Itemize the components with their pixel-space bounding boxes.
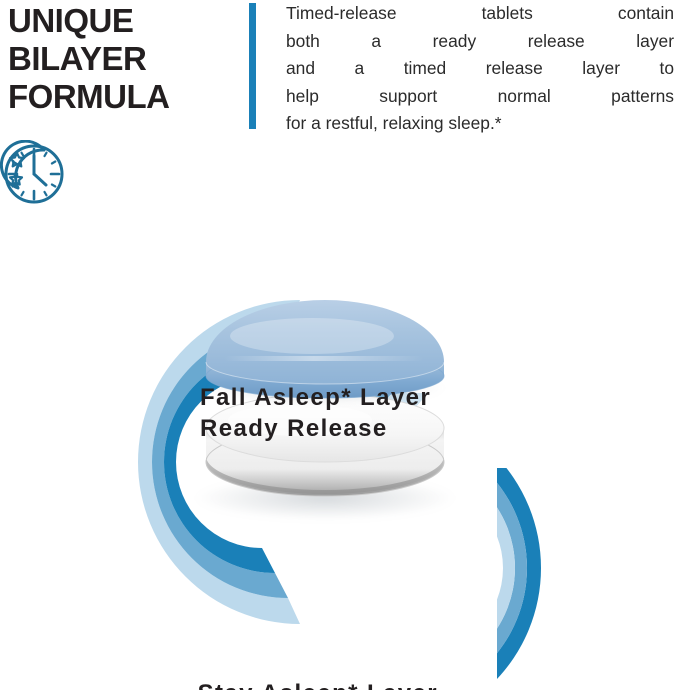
blurb-line-3: and a timed release layer to [286, 55, 674, 83]
description-text: Timed-release tablets contain both a rea… [286, 0, 674, 138]
page-title: UNIQUE BILAYER FORMULA [8, 2, 240, 116]
stay-asleep-label: Stay Asleep* Layer Timed Release [160, 678, 438, 690]
blurb-line-2: both a ready release layer [286, 28, 674, 56]
fall-asleep-label: Fall Asleep* Layer Ready Release [200, 382, 431, 444]
bilayer-formula-infographic: UNIQUE BILAYER FORMULA Timed-release tab… [0, 0, 679, 690]
blurb-line-4: help support normal patterns [286, 83, 674, 111]
fall-asleep-title: Fall Asleep* Layer [200, 382, 431, 413]
fall-asleep-subtitle: Ready Release [200, 413, 431, 444]
blurb-line-1: Timed-release tablets contain [286, 0, 674, 28]
vertical-divider [249, 3, 256, 129]
stay-asleep-title: Stay Asleep* Layer [160, 678, 438, 690]
header: UNIQUE BILAYER FORMULA Timed-release tab… [0, 0, 679, 142]
blurb-line-5: for a restful, relaxing sleep.* [286, 110, 674, 138]
bilayer-diagram: Fall Asleep* Layer Ready Release Stay As… [0, 140, 679, 690]
headline-line-1: UNIQUE [8, 2, 240, 40]
headline-line-3: FORMULA [8, 78, 240, 116]
clock-icon [0, 140, 68, 208]
headline-line-2: BILAYER [8, 40, 240, 78]
